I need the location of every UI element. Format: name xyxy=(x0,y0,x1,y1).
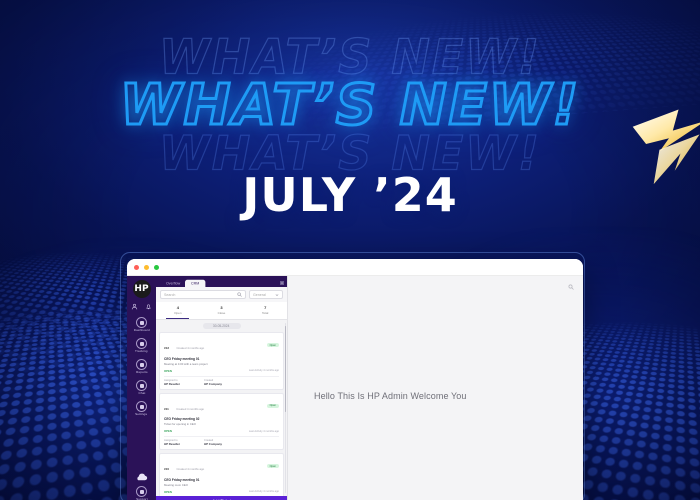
field-value: HP Reseller xyxy=(164,442,180,446)
tracking-icon xyxy=(136,338,147,349)
chevron-down-icon xyxy=(275,293,279,297)
ticket-status: OPEN xyxy=(164,429,172,433)
sidebar-item-label: Dashboard xyxy=(133,329,149,333)
field-value: HP Company xyxy=(204,382,222,386)
search-icon xyxy=(237,292,242,297)
filter-label: General xyxy=(253,292,266,297)
settings-icon xyxy=(136,401,147,412)
ticket-stats-row: 4 Open 3 Close 7 Total xyxy=(156,302,287,320)
sidebar-item-tracking[interactable]: Tracking xyxy=(127,338,156,353)
ticket-id-time: #11 Created 4 months ago xyxy=(164,397,204,415)
stat-total[interactable]: 7 Total xyxy=(243,302,287,319)
ticket-id-time: #12 Created 4 months ago xyxy=(164,336,204,354)
stat-value: 4 xyxy=(156,305,200,310)
ticket-cards-scroll-area[interactable]: 30-05-2024 #12 Created 4 months ago Open… xyxy=(156,320,287,496)
scrollbar-thumb[interactable] xyxy=(285,326,287,412)
ticket-last-activity: Last Activity 4 months ago xyxy=(249,490,279,493)
detail-pane: Hello This Is HP Admin Welcome You xyxy=(288,276,583,500)
ticket-assigned: Assigned to HP Reseller xyxy=(164,439,180,446)
ticket-last-activity: Last Activity 4 months ago xyxy=(249,430,279,433)
bell-icon[interactable] xyxy=(145,303,152,310)
stat-label: Close xyxy=(200,311,244,315)
ticket-created: Created HP Company xyxy=(204,379,222,386)
subtitle: JULY ’24 xyxy=(0,168,700,222)
ticket-title: CEO Friday meeting 02 xyxy=(164,417,287,421)
table-row[interactable]: #10 Created 4 months ago Open CEO Friday… xyxy=(159,453,284,496)
sidebar-item-dashboard[interactable]: Dashboard xyxy=(127,317,156,332)
detail-greeting-text: Hello This Is HP Admin Welcome You xyxy=(314,391,466,401)
ticket-time: Created 4 months ago xyxy=(176,407,204,411)
app-body: HP Dashboard Tracking xyxy=(127,276,583,500)
sidebar-item-chat[interactable]: Chat xyxy=(127,380,156,395)
filter-select[interactable]: General xyxy=(249,290,283,299)
search-row: Search General xyxy=(156,287,287,302)
sidebar-item-support[interactable]: Support xyxy=(127,486,156,500)
status-badge: Open xyxy=(267,343,279,347)
ticket-status-row: OPEN Last Activity 4 months ago xyxy=(164,490,279,494)
stat-label: Total xyxy=(243,311,287,315)
status-badge: Open xyxy=(267,464,279,468)
window-minimize-dot[interactable] xyxy=(144,265,149,270)
field-value: HP Reseller xyxy=(164,382,180,386)
brand-logo-icon[interactable]: HP xyxy=(133,280,151,298)
ticket-last-activity: Last Activity 4 months ago xyxy=(249,369,279,372)
app-sidebar: HP Dashboard Tracking xyxy=(127,276,156,500)
search-placeholder: Search xyxy=(164,292,175,297)
window-close-dot[interactable] xyxy=(134,265,139,270)
ticket-time: Created 4 months ago xyxy=(176,346,204,350)
sidebar-item-reports[interactable]: Reports xyxy=(127,359,156,374)
ticket-list-column: Overflow CRM × Search General xyxy=(156,276,288,500)
tab-crm[interactable]: CRM xyxy=(185,280,205,287)
sidebar-item-settings[interactable]: Settings xyxy=(127,401,156,416)
ticket-header: #11 Created 4 months ago Open xyxy=(164,397,279,415)
sidebar-item-label: Chat xyxy=(138,392,145,396)
window-maximize-dot[interactable] xyxy=(154,265,159,270)
stat-label: Open xyxy=(156,311,200,315)
browser-window-mockup: HP Dashboard Tracking xyxy=(127,259,583,500)
date-separator: 30-05-2024 xyxy=(203,323,241,329)
stat-value: 7 xyxy=(243,305,287,310)
ticket-created: Created HP Company xyxy=(204,439,222,446)
search-input[interactable]: Search xyxy=(160,290,246,299)
sidebar-top-icons xyxy=(131,303,152,310)
ticket-subtitle: Ticket for opening in CEO xyxy=(164,422,279,426)
ticket-subtitle: Meeting at 4:00 with a team project xyxy=(164,362,279,366)
ticket-title: CEO Friday meeting 01 xyxy=(164,477,287,481)
search-icon[interactable] xyxy=(568,284,574,290)
lightning-bolt-icon xyxy=(630,100,700,186)
stat-value: 3 xyxy=(200,305,244,310)
app-tabs-bar: Overflow CRM × xyxy=(156,276,287,287)
table-row[interactable]: #12 Created 4 months ago Open CEO Friday… xyxy=(159,332,284,390)
chat-icon xyxy=(136,380,147,391)
support-icon xyxy=(136,486,147,497)
sidebar-item-label: Tracking xyxy=(135,350,148,354)
table-row[interactable]: #11 Created 4 months ago Open CEO Friday… xyxy=(159,393,284,451)
sidebar-item-label: Settings xyxy=(135,413,147,417)
ticket-title: CEO Friday meeting 01 xyxy=(164,356,287,360)
status-badge: Open xyxy=(267,404,279,408)
tab-overflow[interactable]: Overflow xyxy=(160,280,186,287)
add-ticket-button[interactable]: Add Ticket xyxy=(156,496,287,500)
dashboard-icon xyxy=(136,317,147,328)
user-icon[interactable] xyxy=(131,303,138,310)
date-separator-label: 30-05-2024 xyxy=(213,324,229,329)
ticket-status: OPEN xyxy=(164,369,172,373)
reports-icon xyxy=(136,359,147,370)
sidebar-item-label: Reports xyxy=(136,371,148,375)
sidebar-item-cloud[interactable] xyxy=(127,472,156,482)
ticket-footer: Assigned to HP Reseller Created HP Compa… xyxy=(164,436,279,446)
ticket-id: #12 xyxy=(164,346,169,350)
cloud-icon xyxy=(135,472,148,482)
ticket-header: #10 Created 4 months ago Open xyxy=(164,457,279,475)
ticket-id: #11 xyxy=(164,407,169,411)
ticket-status: OPEN xyxy=(164,490,172,494)
browser-titlebar xyxy=(127,259,583,276)
ticket-assigned: Assigned to HP Reseller xyxy=(164,379,180,386)
ticket-header: #12 Created 4 months ago Open xyxy=(164,336,279,354)
close-icon[interactable]: × xyxy=(280,281,284,285)
ticket-status-row: OPEN Last Activity 4 months ago xyxy=(164,429,279,433)
ticket-status-row: OPEN Last Activity 4 months ago xyxy=(164,369,279,373)
stat-open[interactable]: 4 Open xyxy=(156,302,200,319)
field-value: HP Company xyxy=(204,442,222,446)
ticket-subtitle: Meeting room CEO xyxy=(164,483,279,487)
stat-close[interactable]: 3 Close xyxy=(200,302,244,319)
ticket-id-time: #10 Created 4 months ago xyxy=(164,457,204,475)
ticket-footer: Assigned to HP Reseller Created HP Compa… xyxy=(164,376,279,386)
ticket-id: #10 xyxy=(164,467,169,471)
ticket-time: Created 4 months ago xyxy=(176,467,204,471)
